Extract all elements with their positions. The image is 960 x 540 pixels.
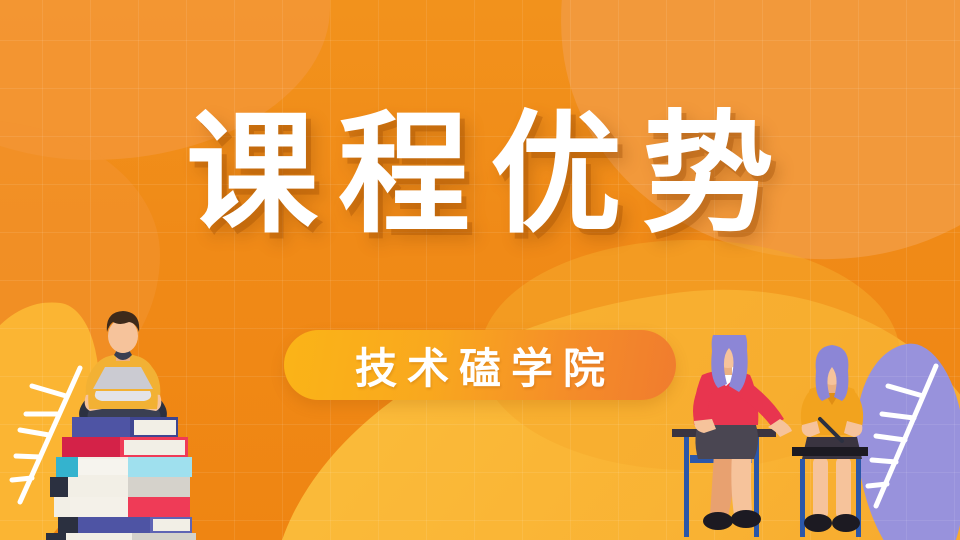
teacher-figure-icon	[672, 335, 792, 537]
book-stack	[46, 417, 196, 540]
title-block: 课程优势	[0, 104, 960, 247]
poster-canvas: 课程优势 技术磕学院	[0, 0, 960, 540]
page-title: 课程优势	[166, 104, 794, 247]
student-figure-icon	[792, 345, 868, 537]
subtitle-label: 技术磕学院	[345, 335, 615, 396]
subtitle-pill: 技术磕学院	[284, 330, 676, 400]
illustration-student-on-books	[18, 305, 228, 540]
illustration-teacher-and-student	[670, 335, 960, 540]
